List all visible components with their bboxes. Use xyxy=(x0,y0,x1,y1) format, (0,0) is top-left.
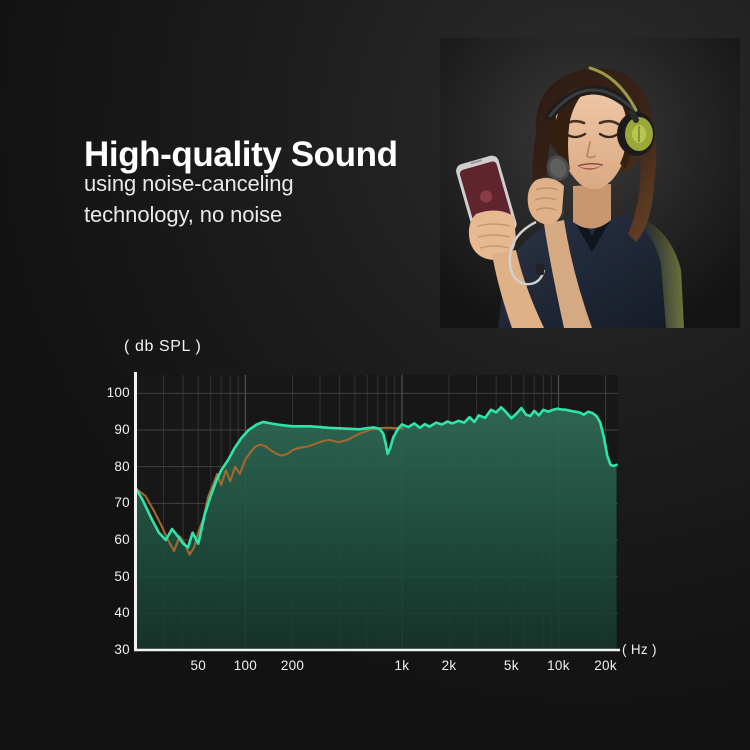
chart-y-tick-label: 60 xyxy=(96,532,130,547)
chart-x-tick-label: 100 xyxy=(221,658,269,673)
hero-photo xyxy=(440,38,740,328)
chart-x-axis-unit: ( Hz ) xyxy=(622,642,657,657)
chart-x-tick-label: 1k xyxy=(378,658,426,673)
chart-x-tick-label: 200 xyxy=(269,658,317,673)
chart-x-tick-label: 20k xyxy=(582,658,630,673)
chart-x-tick-label: 10k xyxy=(534,658,582,673)
frequency-response-chart: ( db SPL ) 3040506 xyxy=(0,330,750,690)
chart-x-tick-label: 2k xyxy=(425,658,473,673)
chart-x-tick-label: 5k xyxy=(487,658,535,673)
chart-y-tick-label: 80 xyxy=(96,459,130,474)
chart-y-tick-label: 100 xyxy=(96,385,130,400)
promo-page: High-quality Sound using noise-canceling… xyxy=(0,0,750,750)
chart-y-tick-label: 30 xyxy=(96,642,130,657)
chart-y-tick-label: 50 xyxy=(96,569,130,584)
chart-y-tick-label: 70 xyxy=(96,495,130,510)
chart-y-tick-label: 90 xyxy=(96,422,130,437)
chart-y-tick-label: 40 xyxy=(96,605,130,620)
chart-x-tick-label: 50 xyxy=(174,658,222,673)
subtitle-line-2: technology, no noise xyxy=(84,199,293,230)
hero-section: High-quality Sound using noise-canceling… xyxy=(0,0,750,320)
page-subtitle: using noise-canceling technology, no noi… xyxy=(84,168,293,230)
subtitle-line-1: using noise-canceling xyxy=(84,168,293,199)
hero-photo-illustration xyxy=(440,38,740,328)
